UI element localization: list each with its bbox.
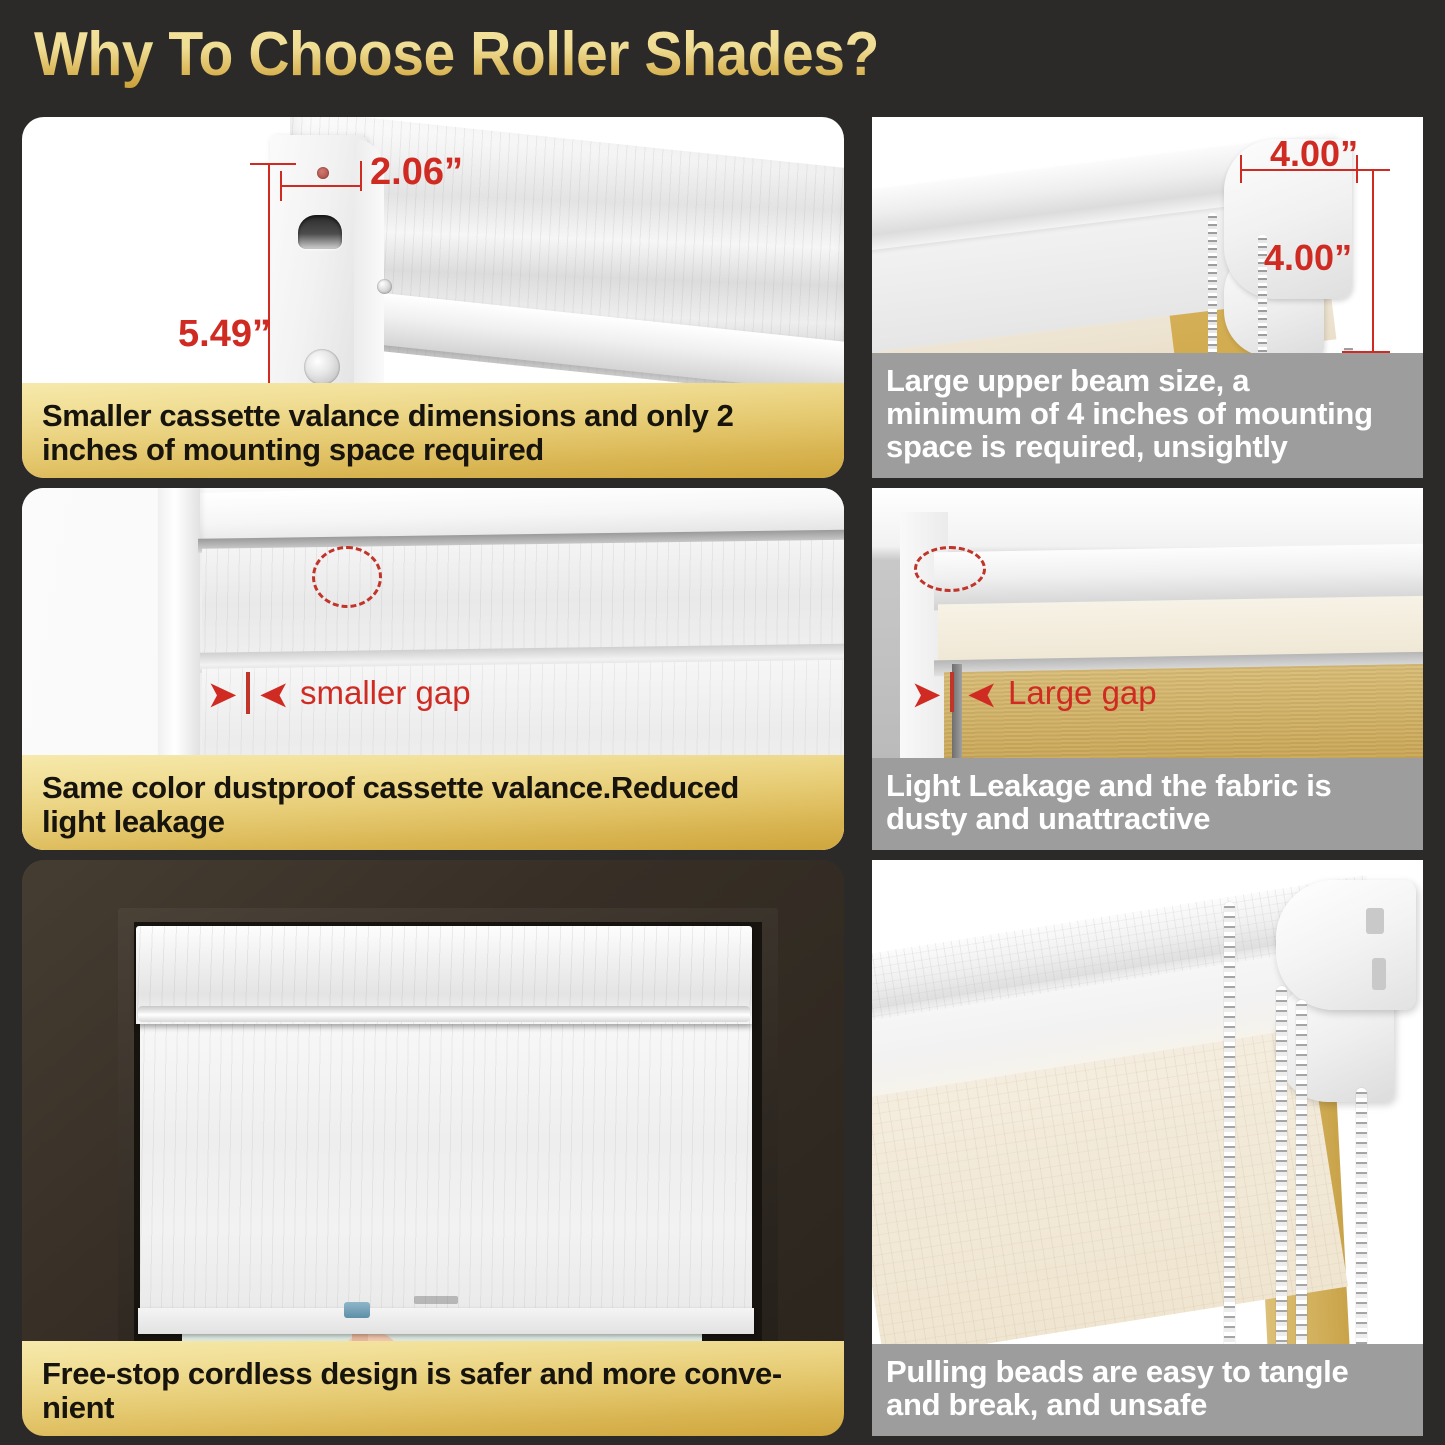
caption-line: Same color dustproof cassette valance.Re… xyxy=(42,771,824,806)
height-tick-top xyxy=(1358,169,1390,171)
mounting-knob-icon xyxy=(304,349,340,385)
shade-bottom-bar xyxy=(138,1308,754,1334)
caption-line: minimum of 4 inches of mounting xyxy=(886,398,1409,431)
gap-marker xyxy=(950,672,954,712)
end-cap-slot-icon xyxy=(298,215,342,249)
panel-6-caption: Pulling beads are easy to tangle and bre… xyxy=(872,1344,1423,1436)
height-dimension-label: 5.49” xyxy=(178,313,271,356)
highlight-circle-icon xyxy=(312,546,382,608)
bead-chain xyxy=(1296,1000,1307,1378)
panel-dustproof-valance: ➤ ➤ smaller gap Same color dustproof cas… xyxy=(22,488,844,850)
screw-icon xyxy=(377,279,392,294)
panel-light-leakage: ➤ ➤ Large gap Light Leakage and the fabr… xyxy=(872,488,1423,850)
arrow-left-icon: ➤ xyxy=(260,678,289,712)
caption-line: space is required, unsightly xyxy=(886,431,1409,464)
bead-chain xyxy=(1356,1088,1367,1378)
panel-large-upper-beam: 4.00” 4.00” Large upper beam size, a min… xyxy=(872,117,1423,478)
panel-pulling-beads: Pulling beads are easy to tangle and bre… xyxy=(872,860,1423,1436)
panel-3-caption: Same color dustproof cassette valance.Re… xyxy=(22,755,844,850)
height-dimension-line xyxy=(1372,169,1374,353)
bracket-slot-icon xyxy=(1366,908,1384,934)
caption-line: nient xyxy=(42,1391,824,1426)
arrow-right-icon: ➤ xyxy=(208,678,237,712)
arrow-left-icon: ➤ xyxy=(968,678,997,712)
caption-line: dusty and unattractive xyxy=(886,803,1409,836)
comparison-grid: 5.49” 2.06” Smaller cassette valance dim… xyxy=(0,108,1445,1445)
caption-line: Light Leakage and the fabric is xyxy=(886,770,1409,803)
page-header: Why To Choose Roller Shades? xyxy=(0,0,1445,108)
caption-line: Free-stop cordless design is safer and m… xyxy=(42,1357,824,1392)
caption-line: inches of mounting space required xyxy=(42,433,824,468)
depth-dimension-line xyxy=(280,185,362,187)
bracket-slot-icon xyxy=(1372,958,1386,990)
height-tick-top xyxy=(250,163,296,165)
depth-tick-left xyxy=(280,171,282,201)
page-title: Why To Choose Roller Shades? xyxy=(34,19,879,90)
shade-fabric-upper xyxy=(202,539,844,660)
smaller-gap-label: smaller gap xyxy=(300,674,471,712)
large-gap-label: Large gap xyxy=(1008,674,1157,712)
panel-1-caption: Smaller cassette valance dimensions and … xyxy=(22,383,844,478)
shade-fabric xyxy=(140,1020,752,1320)
height-dimension-label: 4.00” xyxy=(1264,237,1352,279)
bead-chain xyxy=(1224,902,1235,1378)
panel-2-caption: Large upper beam size, a minimum of 4 in… xyxy=(872,353,1423,478)
gap-marker xyxy=(246,672,250,714)
panel-smaller-cassette: 5.49” 2.06” Smaller cassette valance dim… xyxy=(22,117,844,478)
bead-chain xyxy=(1276,986,1287,1378)
width-tick-left xyxy=(1240,155,1242,183)
caption-line: Pulling beads are easy to tangle xyxy=(886,1356,1409,1389)
caption-line: light leakage xyxy=(42,805,824,840)
width-dimension-label: 4.00” xyxy=(1270,133,1358,175)
panel-5-caption: Free-stop cordless design is safer and m… xyxy=(22,1341,844,1436)
brand-logo xyxy=(414,1296,458,1304)
panel-4-caption: Light Leakage and the fabric is dusty an… xyxy=(872,758,1423,850)
valance-rail xyxy=(138,1006,750,1022)
depth-dimension-label: 2.06” xyxy=(370,151,463,194)
panel-cordless-design: Free-stop cordless design is safer and m… xyxy=(22,860,844,1436)
caption-line: and break, and unsafe xyxy=(886,1389,1409,1422)
red-dot-marker-icon xyxy=(317,167,329,179)
caption-line: Large upper beam size, a xyxy=(886,365,1409,398)
highlight-circle-icon xyxy=(914,546,986,592)
pull-tab xyxy=(344,1302,370,1318)
mounting-bracket-upper xyxy=(1276,880,1416,1010)
depth-tick-right xyxy=(360,161,362,191)
arrow-right-icon: ➤ xyxy=(912,678,941,712)
caption-line: Smaller cassette valance dimensions and … xyxy=(42,399,824,434)
